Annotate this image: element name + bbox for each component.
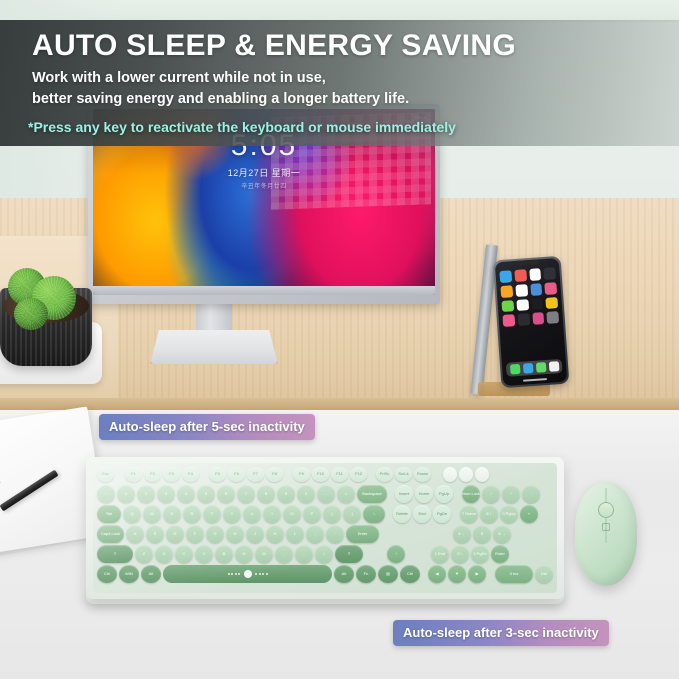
mouse-scroll-wheel[interactable] <box>598 502 614 518</box>
keyboard-row-number-row: ~1234567890-=BackspaceInsertHomePgUpNum … <box>97 485 553 503</box>
keyboard-key-win[interactable]: WIN <box>119 565 139 583</box>
phone-home-indicator <box>523 378 547 382</box>
keyboard-key-blank[interactable] <box>459 467 473 482</box>
callout-keyboard-autosleep: Auto-sleep after 5-sec inactivity <box>99 414 315 440</box>
keyboard-key-7[interactable]: 7 <box>237 485 255 503</box>
keyboard-row-home-row: Caps LockASDFGHJKL;'Enter4 ←56 → <box>97 525 553 543</box>
keyboard-key-f3[interactable]: F3 <box>163 467 180 482</box>
keyboard-key-[interactable]: ' <box>326 525 344 543</box>
phone-dock <box>506 359 563 377</box>
keyboard-key-[interactable]: , <box>275 545 293 563</box>
phone-dock-icon-1[interactable] <box>509 364 520 375</box>
keyboard-key-[interactable]: ] <box>343 505 361 523</box>
keyboard-gap <box>369 467 374 482</box>
keyboard-key-space[interactable] <box>163 565 332 583</box>
phone-app-icon-8[interactable] <box>545 282 558 295</box>
phone-app-icon-10[interactable] <box>516 299 529 312</box>
brand-logo-badge <box>244 570 252 578</box>
keyboard-key-k[interactable]: K <box>266 525 284 543</box>
keyboard-key-[interactable]: ⇧ <box>97 545 133 563</box>
keyboard-key-f8[interactable]: F8 <box>266 467 283 482</box>
keyboard-key-[interactable]: ▤ <box>378 565 398 583</box>
keyboard-gap <box>381 525 451 543</box>
keyboard-key-n[interactable]: N <box>235 545 253 563</box>
keyboard-key-5[interactable]: 5 <box>197 485 215 503</box>
keyboard-gap <box>116 467 123 482</box>
wireless-keyboard[interactable]: EscF1F2F3F4F5F6F7F8F9F10F11F12PrtScScrLk… <box>86 457 564 599</box>
keyboard-key-del[interactable]: Del <box>535 565 553 583</box>
keyboard-key-q[interactable]: Q <box>123 505 141 523</box>
keyboard-key-z[interactable]: Z <box>135 545 153 563</box>
keyboard-key-[interactable]: ⇧ <box>335 545 363 563</box>
phone-app-icon-16[interactable] <box>547 311 560 324</box>
keyboard-key-g[interactable]: G <box>206 525 224 543</box>
keyboard-gap <box>365 545 385 563</box>
smartphone <box>493 256 570 388</box>
keyboard-key-end[interactable]: End <box>413 505 431 523</box>
keyboard-key-f5[interactable]: F5 <box>209 467 226 482</box>
keyboard-key-8[interactable]: 8 ↑ <box>480 505 498 523</box>
wireless-mouse[interactable] <box>575 482 637 586</box>
keyboard-key-l[interactable]: L <box>286 525 304 543</box>
keyboard-rows: EscF1F2F3F4F5F6F7F8F9F10F11F12PrtScScrLk… <box>97 467 553 589</box>
keyboard-key-[interactable]: + <box>520 505 538 523</box>
keyboard-key-x[interactable]: X <box>155 545 173 563</box>
keyboard-gap <box>453 505 458 523</box>
phone-app-icon-12[interactable] <box>546 297 559 310</box>
keyboard-key-9[interactable]: 9 <box>277 485 295 503</box>
phone-dock-icon-3[interactable] <box>535 362 546 373</box>
keyboard-key-[interactable]: ◀ <box>428 565 446 583</box>
keyboard-key-home[interactable]: Home <box>415 485 433 503</box>
keyboard-key-ctrl[interactable]: Ctrl <box>97 565 117 583</box>
keyboard-gap <box>387 505 391 523</box>
keyboard-key-w[interactable]: W <box>143 505 161 523</box>
keyboard-gap <box>455 485 460 503</box>
keyboard-key-f10[interactable]: F10 <box>312 467 329 482</box>
keyboard-key-[interactable]: - <box>522 485 540 503</box>
keyboard-key-pause[interactable]: Pause <box>414 467 431 482</box>
callout-mouse-autosleep: Auto-sleep after 3-sec inactivity <box>393 620 609 646</box>
keyboard-key-[interactable]: ▼ <box>448 565 466 583</box>
keyboard-key-prtsc[interactable]: PrtSc <box>376 467 393 482</box>
keyboard-row-bottom-row: CtrlWINAltAltFn▤Ctrl◀▼▶0 InsDel <box>97 565 553 583</box>
keyboard-key-8[interactable]: 8 <box>257 485 275 503</box>
keyboard-key-fn[interactable]: Fn <box>356 565 376 583</box>
keyboard-key-f6[interactable]: F6 <box>228 467 245 482</box>
headline-subtitle-line2: better saving energy and enabling a long… <box>32 89 409 110</box>
keyboard-key-v[interactable]: V <box>195 545 213 563</box>
phone-app-icon-13[interactable] <box>502 314 515 327</box>
keyboard-key-0[interactable]: 0 <box>297 485 315 503</box>
keyboard-key-m[interactable]: M <box>255 545 273 563</box>
keyboard-key-4[interactable]: 4 <box>177 485 195 503</box>
keyboard-key-alt[interactable]: Alt <box>141 565 161 583</box>
keyboard-row-qwerty-row: TabQWERTYUIOP[]\DeleteEndPgDn7 Home8 ↑9 … <box>97 505 553 523</box>
keyboard-row-function-row: EscF1F2F3F4F5F6F7F8F9F10F11F12PrtScScrLk… <box>97 467 553 482</box>
keyboard-key-ctrl[interactable]: Ctrl <box>400 565 420 583</box>
phone-app-icon-2[interactable] <box>514 269 527 282</box>
keyboard-key-p[interactable]: P <box>303 505 321 523</box>
keyboard-key-1-end[interactable]: 1 End <box>431 545 449 563</box>
keyboard-key-5[interactable]: 5 <box>473 525 491 543</box>
keyboard-key-o[interactable]: O <box>283 505 301 523</box>
keyboard-key-a[interactable]: A <box>126 525 144 543</box>
headline-note: *Press any key to reactivate the keyboar… <box>28 119 456 135</box>
phone-app-icon-5[interactable] <box>500 285 513 298</box>
keyboard-key-d[interactable]: D <box>166 525 184 543</box>
keyboard-key-6[interactable]: 6 <box>217 485 235 503</box>
clock-date-lunar: 辛丑年冬月廿四 <box>93 181 435 190</box>
keyboard-key-[interactable]: ↑ <box>387 545 405 563</box>
keyboard-key-9-pgup[interactable]: 9 PgUp <box>500 505 518 523</box>
phone-body <box>493 256 570 388</box>
keyboard-key-s[interactable]: S <box>146 525 164 543</box>
phone-dock-icon-4[interactable] <box>548 361 559 372</box>
keyboard-key-y[interactable]: Y <box>223 505 241 523</box>
keyboard-key-blank[interactable] <box>475 467 489 482</box>
keyboard-key-t[interactable]: T <box>203 505 221 523</box>
keyboard-gap <box>433 467 441 482</box>
keyboard-key-insert[interactable]: Insert <box>395 485 413 503</box>
keyboard-key-[interactable]: \ <box>363 505 385 523</box>
keyboard-key-num-lock[interactable]: Num Lock <box>462 485 480 503</box>
phone-app-icon-4[interactable] <box>544 267 557 280</box>
keyboard-key-[interactable]: / <box>315 545 333 563</box>
keyboard-key-scrlk[interactable]: ScrLk <box>395 467 412 482</box>
keyboard-key-j[interactable]: J <box>246 525 264 543</box>
keyboard-key-blank[interactable] <box>443 467 457 482</box>
keyboard-key-u[interactable]: U <box>243 505 261 523</box>
keyboard-key-esc[interactable]: Esc <box>97 467 114 482</box>
keyboard-key-[interactable]: . <box>295 545 313 563</box>
headline-subtitle: Work with a lower current while not in u… <box>32 68 409 109</box>
phone-app-icon-14[interactable] <box>517 313 530 326</box>
phone-app-icon-15[interactable] <box>532 312 545 325</box>
headline-title: AUTO SLEEP & ENERGY SAVING <box>32 29 516 63</box>
keyboard-key-0-ins[interactable]: 0 Ins <box>495 565 533 583</box>
keyboard-key-[interactable]: [ <box>323 505 341 523</box>
keyboard-gap <box>407 545 429 563</box>
phone-notch <box>514 259 540 266</box>
monitor-base <box>150 330 278 364</box>
keyboard-key-3-pgdn[interactable]: 3 PgDn <box>471 545 489 563</box>
keyboard-key-c[interactable]: C <box>175 545 193 563</box>
clock-date: 12月27日 星期一 <box>93 166 435 179</box>
keyboard-key-f2[interactable]: F2 <box>144 467 161 482</box>
keyboard-key-3[interactable]: 3 <box>157 485 175 503</box>
keyboard-key-f4[interactable]: F4 <box>182 467 199 482</box>
phone-screen <box>495 258 567 386</box>
cactus-ball-front <box>14 298 48 330</box>
keyboard-key-f[interactable]: F <box>186 525 204 543</box>
keyboard-key-1[interactable]: 1 <box>117 485 135 503</box>
keyboard-key-2[interactable]: 2 ↓ <box>451 545 469 563</box>
product-marketing-image: DELL 5:05 12月27日 星期一 辛丑年冬月廿四 <box>0 0 679 679</box>
keyboard-gap <box>285 467 291 482</box>
keyboard-key-e[interactable]: E <box>163 505 181 523</box>
phone-app-icon-11[interactable] <box>531 298 544 311</box>
keyboard-gap <box>422 565 426 583</box>
keyboard-key-f1[interactable]: F1 <box>125 467 142 482</box>
keyboard-key-f7[interactable]: F7 <box>247 467 264 482</box>
phone-app-icon-6[interactable] <box>515 284 528 297</box>
keyboard-key-f11[interactable]: F11 <box>331 467 348 482</box>
keyboard-key-caps-lock[interactable]: Caps Lock <box>97 525 124 543</box>
keyboard-key-[interactable]: / <box>482 485 500 503</box>
keyboard-key-h[interactable]: H <box>226 525 244 543</box>
headline-subtitle-line1: Work with a lower current while not in u… <box>32 68 409 89</box>
keyboard-key-2[interactable]: 2 <box>137 485 155 503</box>
keyboard-key-b[interactable]: B <box>215 545 233 563</box>
keyboard-key-pgdn[interactable]: PgDn <box>433 505 451 523</box>
phone-app-icon-1[interactable] <box>499 270 512 283</box>
mouse-seam-line <box>606 529 607 543</box>
phone-app-icon-9[interactable] <box>501 300 514 313</box>
keyboard-key-enter[interactable]: Enter <box>346 525 379 543</box>
keyboard-key-f9[interactable]: F9 <box>293 467 310 482</box>
keyboard-key-[interactable]: = <box>337 485 355 503</box>
keyboard-key-pgup[interactable]: PgUp <box>435 485 453 503</box>
keyboard-key-enter[interactable]: Enter <box>491 545 509 563</box>
keyboard-key-delete[interactable]: Delete <box>393 505 411 523</box>
keyboard-row-shift-row: ⇧ZXCVBNM,./⇧↑1 End2 ↓3 PgDnEnter <box>97 545 553 563</box>
keyboard-gap <box>389 485 393 503</box>
phone-dock-icon-2[interactable] <box>522 363 533 374</box>
keyboard-key-7-home[interactable]: 7 Home <box>460 505 478 523</box>
keyboard-key-backspace[interactable]: Backspace <box>357 485 387 503</box>
brand-logo-icon <box>228 570 268 578</box>
keyboard-key-[interactable]: ; <box>306 525 324 543</box>
keyboard-gap <box>201 467 207 482</box>
keyboard-key-[interactable]: ▶ <box>468 565 486 583</box>
keyboard-key-i[interactable]: I <box>263 505 281 523</box>
keyboard-key-tab[interactable]: Tab <box>97 505 121 523</box>
keyboard-key-4[interactable]: 4 ← <box>453 525 471 543</box>
phone-app-grid <box>499 267 559 327</box>
phone-app-icon-3[interactable] <box>529 268 542 281</box>
keyboard-key-alt[interactable]: Alt <box>334 565 354 583</box>
keyboard-key-f12[interactable]: F12 <box>350 467 367 482</box>
keyboard-gap <box>488 565 493 583</box>
keyboard-key-[interactable]: * <box>502 485 520 503</box>
monitor-screen-chin <box>93 286 435 295</box>
keyboard-key-[interactable]: ~ <box>97 485 115 503</box>
keyboard-key-6[interactable]: 6 → <box>493 525 511 543</box>
keyboard-key-[interactable]: - <box>317 485 335 503</box>
keyboard-plate: EscF1F2F3F4F5F6F7F8F9F10F11F12PrtScScrLk… <box>93 463 557 593</box>
keyboard-key-r[interactable]: R <box>183 505 201 523</box>
phone-app-icon-7[interactable] <box>530 283 543 296</box>
